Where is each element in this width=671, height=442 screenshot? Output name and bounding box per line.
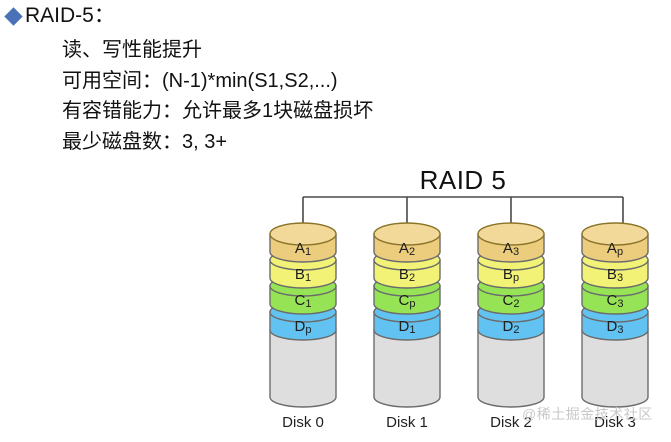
slide-detail-lines: 读、写性能提升 可用空间：(N-1)*min(S1,S2,...) 有容错能力：… — [62, 35, 373, 157]
disk-column[interactable]: A2 B2 Cp D1 Disk 1 — [368, 212, 446, 442]
disk-column[interactable]: A3 Bp C2 D2 Disk 2 — [472, 212, 550, 442]
slide-line-performance: 读、写性能提升 — [62, 35, 373, 66]
disk-cylinder-graphic — [576, 212, 654, 412]
disk-column[interactable]: A1 B1 C1 Dp Disk 0 — [264, 212, 342, 442]
disk-cylinder-graphic — [368, 212, 446, 412]
page-title: RAID-5： — [25, 4, 115, 28]
disk-cylinder-graphic — [472, 212, 550, 412]
disk-caption: Disk 1 — [368, 414, 446, 432]
disk-caption: Disk 3 — [576, 414, 654, 432]
disk-cylinder-graphic — [264, 212, 342, 412]
disk-column[interactable]: Ap B3 C3 D3 Disk 3 — [576, 212, 654, 442]
diamond-bullet-icon — [4, 7, 22, 25]
bullet-heading-row: RAID-5： — [7, 4, 115, 28]
disk-caption: Disk 0 — [264, 414, 342, 432]
slide-line-fault-tolerance: 有容错能力：允许最多1块磁盘损坏 — [62, 96, 373, 127]
raid5-diagram: RAID 5 — [255, 165, 671, 441]
disk-caption: Disk 2 — [472, 414, 550, 432]
disk-array: A1 B1 C1 Dp Disk 0 A2 B2 Cp D1 Disk — [255, 212, 671, 442]
slide-line-capacity: 可用空间：(N-1)*min(S1,S2,...) — [62, 66, 373, 97]
slide-line-min-disks: 最少磁盘数：3, 3+ — [62, 127, 373, 158]
raid-diagram-title: RAID 5 — [255, 165, 671, 195]
